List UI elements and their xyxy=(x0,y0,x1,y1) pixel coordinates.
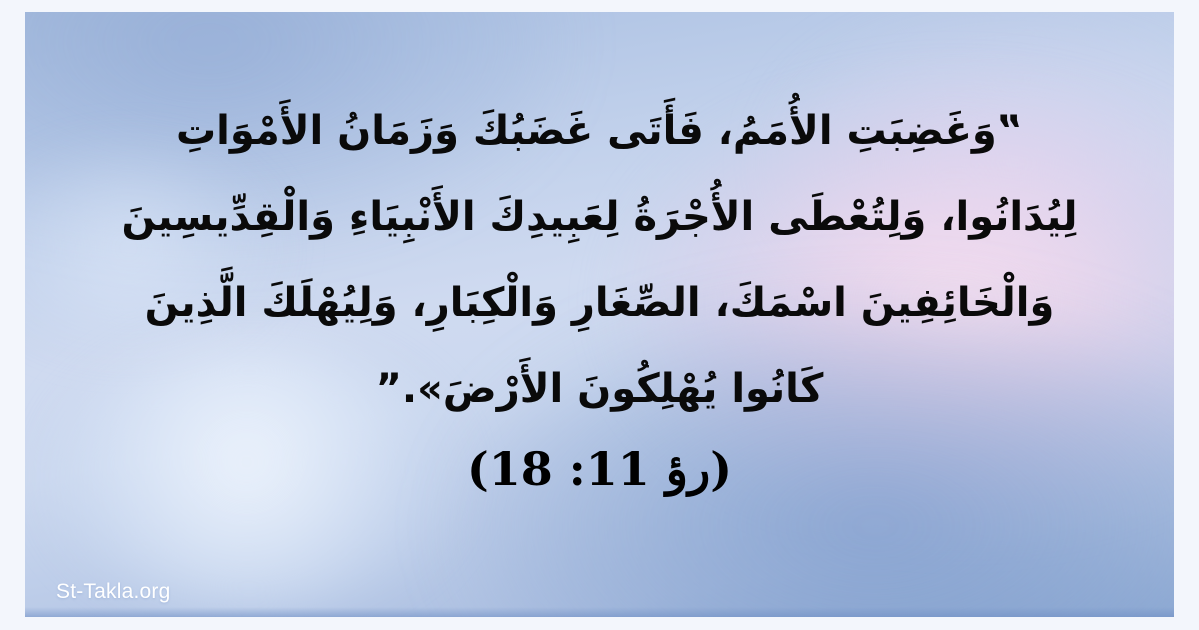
citation-text: (رؤ 11: 18) xyxy=(467,442,732,496)
verse-citation: (رؤ 11: 18) xyxy=(25,12,1174,495)
verse-image-canvas: ‟وَغَضِبَتِ الأُمَمُ، فَأَتَى غَضَبُكَ و… xyxy=(0,0,1199,630)
site-watermark: St-Takla.org xyxy=(56,580,170,604)
background-bottom-edge xyxy=(25,607,1174,617)
